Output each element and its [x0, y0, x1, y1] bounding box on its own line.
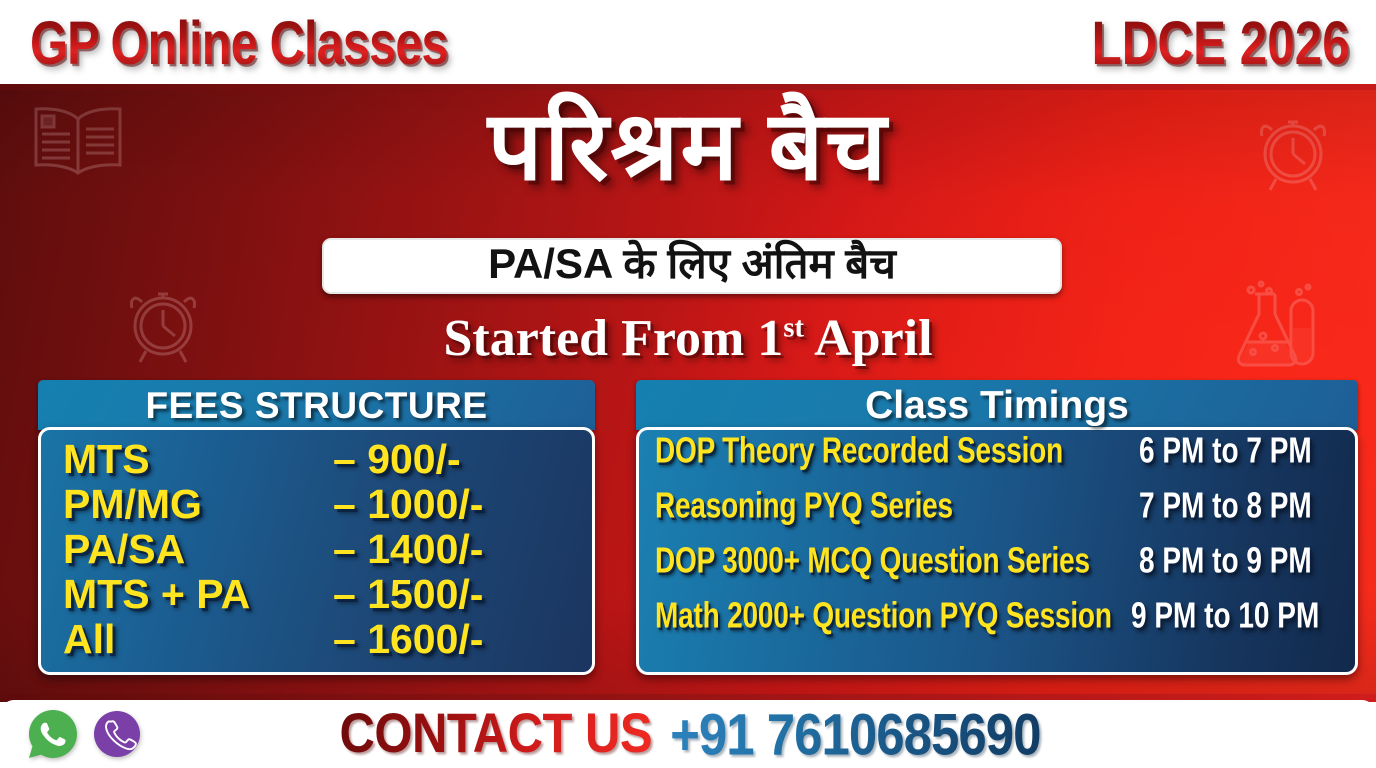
sub-banner-text: PA/SA के लिए अंतिम बैच [488, 243, 896, 285]
fee-price: – 1400/- [333, 529, 576, 570]
fee-label: PM/MG [63, 484, 333, 525]
social-icons [0, 707, 144, 761]
timing-name: Math 2000+ Question PYQ Session [655, 598, 1127, 634]
whatsapp-icon[interactable] [26, 707, 80, 761]
fee-price: – 900/- [333, 439, 576, 480]
start-date-prefix: Started From 1 [443, 310, 783, 367]
timing-time: 9 PM to 10 PM [1127, 598, 1345, 634]
sub-banner: PA/SA के लिए अंतिम बैच [322, 238, 1062, 294]
contact-us-label: CONTACT US [340, 706, 653, 762]
timings-panel-header: Class Timings [636, 380, 1358, 430]
fees-panel-body: MTS – 900/- PM/MG – 1000/- PA/SA – 1400/… [38, 427, 595, 675]
page-title: परिश्रम बैच [0, 97, 1376, 198]
timing-time: 7 PM to 8 PM [1135, 488, 1345, 524]
timing-time: 6 PM to 7 PM [1135, 433, 1345, 469]
start-date-line: Started From 1st April [0, 310, 1376, 367]
viber-icon[interactable] [90, 707, 144, 761]
timing-name: Reasoning PYQ Series [655, 488, 1135, 524]
fee-row: MTS + PA – 1500/- [63, 574, 576, 619]
fees-structure-panel: FEES STRUCTURE MTS – 900/- PM/MG – 1000/… [38, 380, 595, 675]
start-date-ordinal: st [783, 313, 804, 344]
fee-label: All [63, 619, 333, 660]
brand-title: GP Online Classes [30, 13, 448, 74]
timing-name: DOP 3000+ MCQ Question Series [655, 543, 1135, 579]
poster-header: GP Online Classes LDCE 2026 [0, 0, 1376, 88]
fee-price: – 1500/- [333, 574, 576, 615]
fee-price: – 1000/- [333, 484, 576, 525]
fee-row: All – 1600/- [63, 619, 576, 664]
timing-time: 8 PM to 9 PM [1135, 543, 1345, 579]
contact-block: CONTACT US +91 7610685690 [144, 709, 1376, 760]
promo-poster: GP Online Classes LDCE 2026 [0, 0, 1376, 768]
class-timings-panel: Class Timings DOP Theory Recorded Sessio… [636, 380, 1358, 675]
timing-name: DOP Theory Recorded Session [655, 433, 1135, 469]
fee-row: MTS – 900/- [63, 439, 576, 484]
timings-panel-title: Class Timings [865, 386, 1129, 425]
timing-row: Math 2000+ Question PYQ Session 9 PM to … [655, 606, 1345, 661]
fee-label: MTS [63, 439, 333, 480]
phone-number[interactable]: +91 7610685690 [670, 705, 1040, 763]
fees-panel-header: FEES STRUCTURE [38, 380, 595, 430]
fee-label: MTS + PA [63, 574, 333, 615]
fee-row: PM/MG – 1000/- [63, 484, 576, 529]
timings-panel-body: DOP Theory Recorded Session 6 PM to 7 PM… [636, 427, 1358, 675]
poster-footer: CONTACT US +91 7610685690 [0, 700, 1376, 768]
fee-label: PA/SA [63, 529, 333, 570]
start-date-suffix: April [804, 310, 933, 367]
fee-price: – 1600/- [333, 619, 576, 660]
header-divider [0, 84, 1376, 90]
exam-title: LDCE 2026 [1092, 13, 1350, 74]
fees-panel-title: FEES STRUCTURE [145, 387, 487, 424]
fee-row: PA/SA – 1400/- [63, 529, 576, 574]
